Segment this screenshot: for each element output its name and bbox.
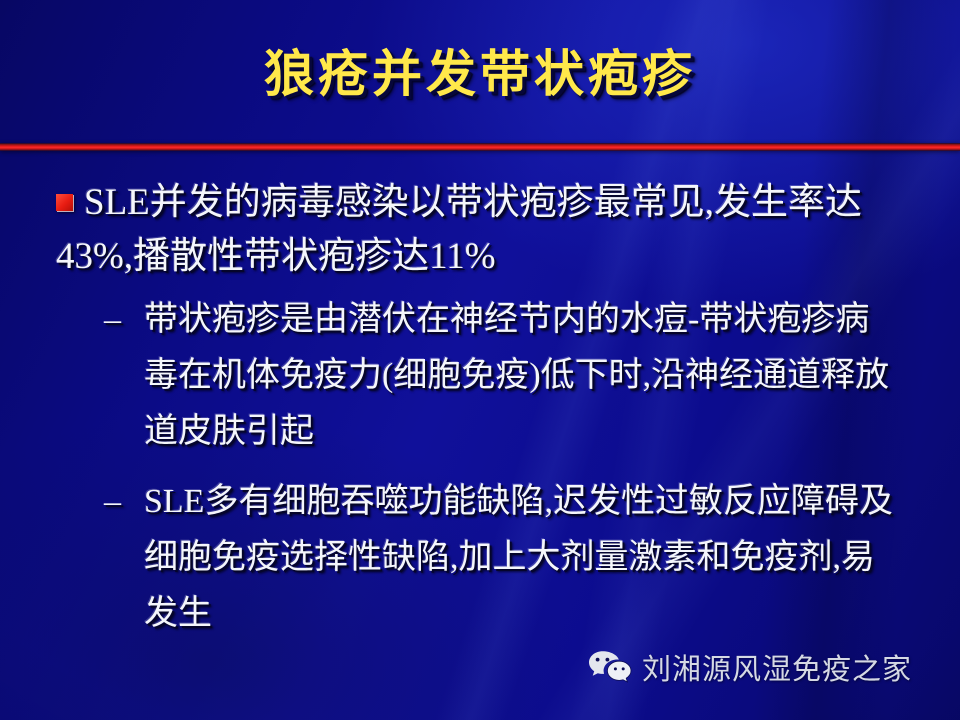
bullet-level1-label: SLE并发的病毒感染以带状疱疹最常见,发生率达43%,播散性带状疱疹达11%	[56, 182, 862, 277]
dash-bullet-icon: –	[104, 474, 121, 530]
watermark-label: 刘湘源风湿免疫之家	[642, 652, 912, 686]
bullet-level2: – 带状疱疹是由潜伏在神经节内的水痘-带状疱疹病毒在机体免疫力(细胞免疫)低下时…	[0, 292, 960, 460]
bullet-level1: SLE并发的病毒感染以带状疱疹最常见,发生率达43%,播散性带状疱疹达11%	[0, 176, 960, 284]
page-title: 狼疮并发带状疱疹	[0, 45, 960, 103]
bullet-level2-label: SLE多有细胞吞噬功能缺陷,迟发性过敏反应障碍及细胞免疫选择性缺陷,加上大剂量激…	[144, 483, 893, 632]
bullet-level2: – SLE多有细胞吞噬功能缺陷,迟发性过敏反应障碍及细胞免疫选择性缺陷,加上大剂…	[0, 474, 960, 642]
wechat-icon	[588, 650, 632, 688]
presentation-slide: 狼疮并发带状疱疹 SLE并发的病毒感染以带状疱疹最常见,发生率达43%,播散性带…	[0, 0, 960, 720]
slide-header: 狼疮并发带状疱疹	[0, 0, 960, 146]
square-bullet-icon	[56, 194, 73, 211]
dash-bullet-icon: –	[104, 292, 121, 348]
slide-body: SLE并发的病毒感染以带状疱疹最常见,发生率达43%,播散性带状疱疹达11% –…	[0, 176, 960, 642]
bullet-level2-label: 带状疱疹是由潜伏在神经节内的水痘-带状疱疹病毒在机体免疫力(细胞免疫)低下时,沿…	[144, 301, 889, 450]
footer-watermark: 刘湘源风湿免疫之家	[588, 650, 912, 688]
header-divider	[0, 143, 960, 151]
